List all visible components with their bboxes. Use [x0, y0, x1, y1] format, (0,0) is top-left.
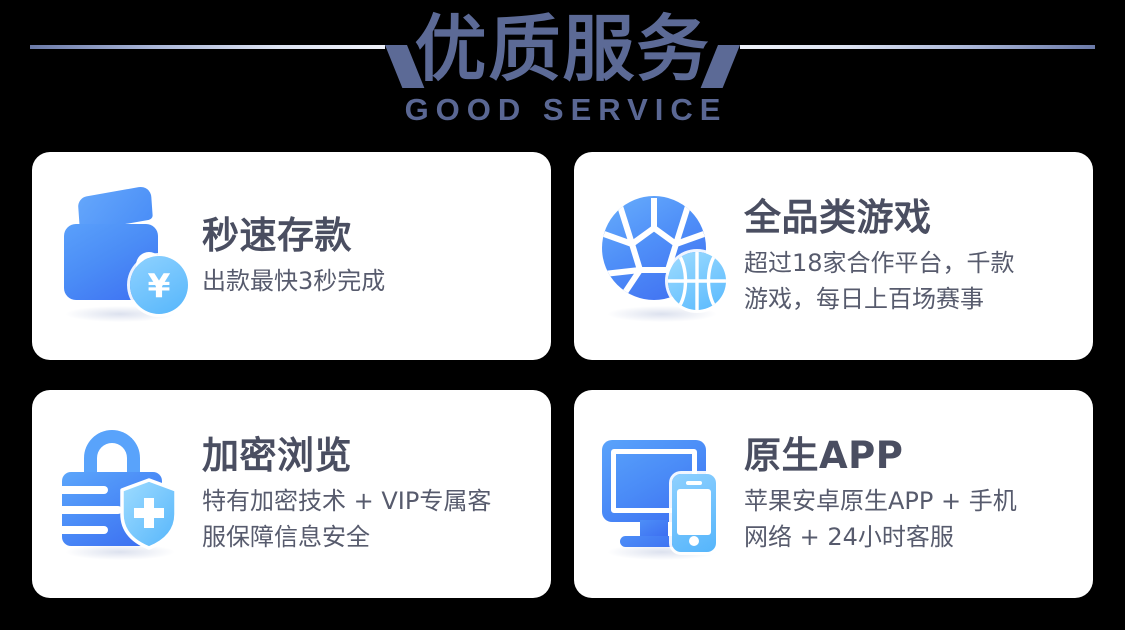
feature-description-line: 网络 + 24小时客服 — [744, 519, 1077, 555]
feature-title: 原生APP — [744, 433, 1077, 479]
lock-stripe — [62, 506, 122, 514]
yen-coin-icon: ¥ — [130, 256, 188, 314]
feature-card-native-app[interactable]: 原生APP 苹果安卓原生APP + 手机 网络 + 24小时客服 — [574, 390, 1093, 598]
feature-description-line: 出款最快3秒完成 — [202, 263, 535, 299]
feature-card-text: 秒速存款 出款最快3秒完成 — [194, 213, 535, 299]
feature-title: 全品类游戏 — [744, 195, 1077, 241]
shield-plus-icon — [118, 478, 180, 550]
feature-card-grid: ¥ 秒速存款 出款最快3秒完成 — [32, 152, 1093, 598]
phone-screen — [677, 489, 711, 535]
feature-card-encryption[interactable]: 加密浏览 特有加密技术 + VIP专属客 服保障信息安全 — [32, 390, 551, 598]
yen-symbol: ¥ — [148, 269, 171, 302]
feature-title: 加密浏览 — [202, 433, 535, 479]
feature-card-text: 加密浏览 特有加密技术 + VIP专属客 服保障信息安全 — [194, 433, 535, 555]
lock-shield-icon — [54, 424, 194, 564]
feature-description: 超过18家合作平台，千款 游戏，每日上百场赛事 — [744, 245, 1077, 317]
feature-description: 特有加密技术 + VIP专属客 服保障信息安全 — [202, 483, 535, 555]
phone-speaker — [686, 481, 702, 485]
phone-icon — [672, 474, 716, 552]
feature-description-line: 服保障信息安全 — [202, 519, 535, 555]
soccer-basketball-icon — [596, 186, 736, 326]
basketball-icon — [668, 252, 726, 310]
feature-description-line: 游戏，每日上百场赛事 — [744, 281, 1077, 317]
page-header: 优质服务 GOOD SERVICE — [0, 0, 1125, 150]
wallet-yen-icon: ¥ — [54, 186, 194, 326]
feature-title: 秒速存款 — [202, 213, 535, 259]
monitor-phone-icon — [596, 424, 736, 564]
feature-card-games[interactable]: 全品类游戏 超过18家合作平台，千款 游戏，每日上百场赛事 — [574, 152, 1093, 360]
feature-description: 出款最快3秒完成 — [202, 263, 535, 299]
feature-description: 苹果安卓原生APP + 手机 网络 + 24小时客服 — [744, 483, 1077, 555]
feature-description-line: 苹果安卓原生APP + 手机 — [744, 483, 1077, 519]
page-subtitle: GOOD SERVICE — [0, 92, 1125, 128]
feature-card-text: 原生APP 苹果安卓原生APP + 手机 网络 + 24小时客服 — [736, 433, 1077, 555]
feature-card-text: 全品类游戏 超过18家合作平台，千款 游戏，每日上百场赛事 — [736, 195, 1077, 317]
lock-stripe — [62, 526, 108, 534]
feature-description-line: 超过18家合作平台，千款 — [744, 245, 1077, 281]
feature-card-deposit[interactable]: ¥ 秒速存款 出款最快3秒完成 — [32, 152, 551, 360]
page-title: 优质服务 — [0, 0, 1125, 92]
phone-home-button — [689, 536, 699, 546]
header-title-block: 优质服务 GOOD SERVICE — [0, 0, 1125, 128]
feature-description-line: 特有加密技术 + VIP专属客 — [202, 483, 535, 519]
lock-stripe — [62, 486, 108, 494]
